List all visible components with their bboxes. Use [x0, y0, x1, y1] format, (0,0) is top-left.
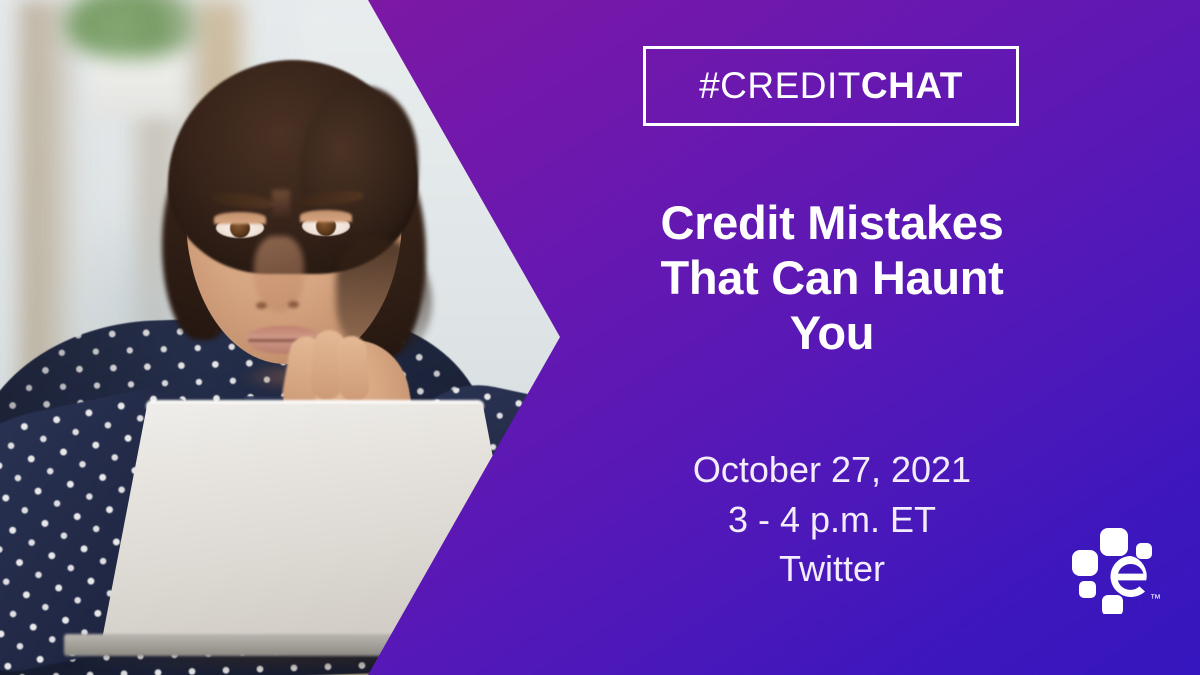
finger-3 [336, 335, 371, 403]
nostril-left [256, 302, 267, 309]
headline-line-3: You [590, 306, 1074, 361]
experian-logo: ™ [1066, 522, 1166, 614]
eyelid-right [300, 210, 352, 222]
headline-line-1: Credit Mistakes [590, 196, 1074, 251]
page-title: Credit Mistakes That Can Haunt You [590, 196, 1074, 361]
headline-line-2: That Can Haunt [590, 251, 1074, 306]
credit-chat-badge: #CREDITCHAT [643, 46, 1019, 126]
badge-hashtag-light: #CREDIT [699, 65, 861, 106]
badge-hashtag-bold: CHAT [861, 65, 963, 106]
logo-trademark: ™ [1150, 593, 1161, 605]
logo-dot-medium-bottom [1102, 595, 1123, 614]
logo-dot-medium-left [1072, 550, 1098, 576]
logo-dot-small-lowerleft [1079, 581, 1096, 598]
promo-graphic: #CREDITCHAT Credit Mistakes That Can Hau… [0, 0, 1200, 675]
event-date: October 27, 2021 [600, 445, 1064, 495]
credit-chat-badge-text: #CREDITCHAT [699, 65, 963, 107]
nostril-right [288, 301, 299, 308]
event-details: October 27, 2021 3 - 4 p.m. ET Twitter [600, 445, 1064, 594]
brow-furrow [272, 190, 290, 220]
event-time: 3 - 4 p.m. ET [600, 495, 1064, 545]
logo-dot-small-topright [1136, 543, 1152, 559]
eyelid-left [214, 212, 266, 224]
logo-dot-large-top [1100, 528, 1128, 556]
logo-letter-e [1111, 556, 1147, 597]
event-platform: Twitter [600, 544, 1064, 594]
